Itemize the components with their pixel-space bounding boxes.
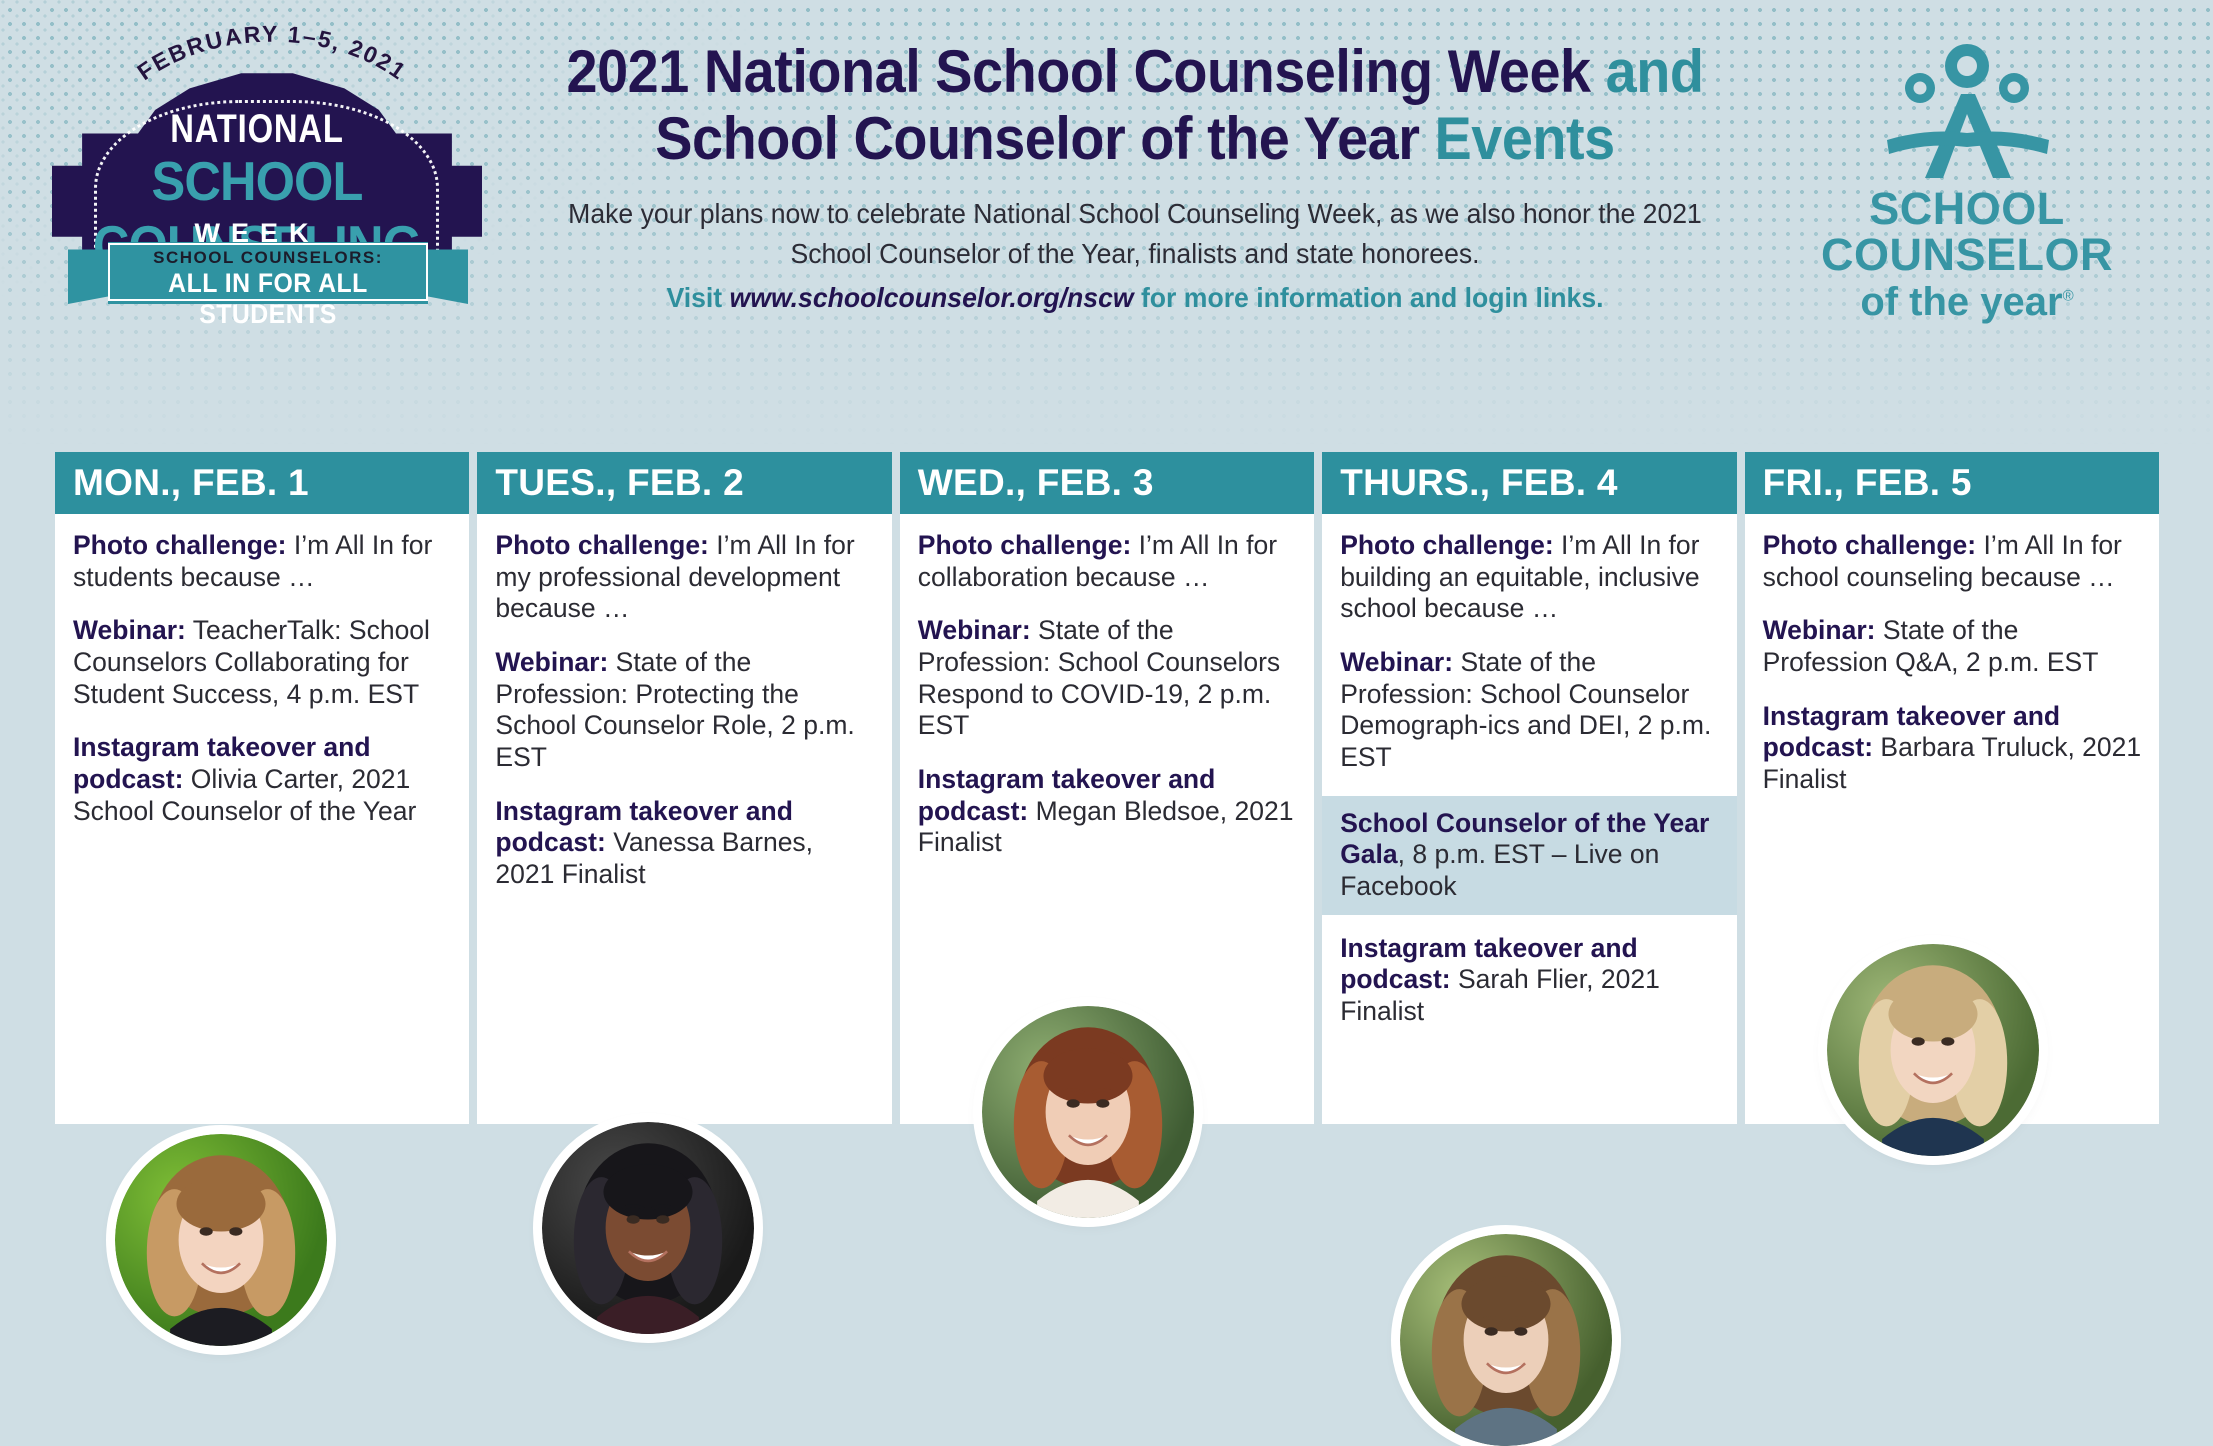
day-body-4: Photo challenge: I’m All In for building… [1322, 514, 1736, 1124]
event-entry: Webinar: TeacherTalk: School Counselors … [73, 615, 453, 710]
event-entry: Instagram takeover and podcast: Olivia C… [73, 732, 453, 827]
school-counselor-of-the-year-logo: SCHOOL COUNSELOR of the year® [1757, 36, 2177, 296]
title-accent-and: and [1606, 38, 1704, 105]
honoree-photo-image [1827, 944, 2039, 1156]
honoree-photo [1400, 1234, 1612, 1446]
event-entry-label: Photo challenge: [495, 530, 709, 560]
nscw-logo-ribbon-line2: ALL IN FOR ALL STUDENTS [121, 268, 415, 330]
honoree-photo [1827, 944, 2039, 1156]
day-header-2: TUES., FEB. 2 [477, 452, 891, 514]
event-entry-label: Webinar: [1340, 647, 1453, 677]
event-entry-label: Webinar: [1763, 615, 1876, 645]
honoree-photo-image [542, 1122, 754, 1334]
title-part-1: 2021 National School Counseling Week [567, 38, 1606, 105]
day-column-1: MON., FEB. 1Photo challenge: I’m All In … [55, 452, 469, 1124]
honoree-photo-image [982, 1006, 1194, 1218]
event-entry: Webinar: State of the Profession: School… [918, 615, 1298, 742]
day-body-2: Photo challenge: I’m All In for my profe… [477, 514, 891, 1124]
day-body-5: Photo challenge: I’m All In for school c… [1745, 514, 2159, 1124]
event-entry-label: Photo challenge: [918, 530, 1132, 560]
day-header-4: THURS., FEB. 4 [1322, 452, 1736, 514]
honoree-photo [542, 1122, 754, 1334]
scoy-line-school: SCHOOL [1757, 186, 2177, 232]
event-entry-label: Photo challenge: [73, 530, 287, 560]
event-entry: Photo challenge: I’m All In for collabor… [918, 530, 1298, 593]
scoy-brush-a-icon [1757, 36, 2177, 186]
nscw-logo-ribbon-line1: SCHOOL COUNSELORS: [108, 248, 428, 268]
day-header-3: WED., FEB. 3 [900, 452, 1314, 514]
honoree-photo [982, 1006, 1194, 1218]
registered-mark: ® [2063, 287, 2074, 304]
honoree-photo-image [1400, 1234, 1612, 1446]
title-part-2: School Counselor of the Year [655, 105, 1434, 172]
event-entry-label: Webinar: [918, 615, 1031, 645]
event-entry: Webinar: State of the Profession: Protec… [495, 647, 875, 774]
scoy-line-of-the-year: of the year® [1757, 281, 2177, 323]
scoy-of-the-year-text: of the year [1860, 280, 2062, 324]
event-entry: Webinar: State of the Profession Q&A, 2 … [1763, 615, 2143, 678]
event-entry: Photo challenge: I’m All In for school c… [1763, 530, 2143, 593]
day-header-5: FRI., FEB. 5 [1745, 452, 2159, 514]
event-entry: Webinar: State of the Profession: School… [1340, 647, 1720, 774]
visit-link-line: Visit www.schoolcounselor.org/nscw for m… [551, 282, 1720, 314]
website-url[interactable]: www.schoolcounselor.org/nscw [730, 282, 1134, 313]
header-block: 2021 National School Counseling Week and… [520, 38, 1750, 314]
event-entry: Instagram takeover and podcast: Barbara … [1763, 701, 2143, 796]
event-entry: Instagram takeover and podcast: Sarah Fl… [1340, 933, 1720, 1028]
honoree-photo [115, 1134, 327, 1346]
visit-suffix: for more information and login links. [1134, 282, 1604, 313]
scoy-line-counselor: COUNSELOR [1757, 232, 2177, 278]
gala-entry: School Counselor of the Year Gala, 8 p.m… [1322, 796, 1736, 915]
event-entry: Photo challenge: I’m All In for building… [1340, 530, 1720, 625]
day-body-1: Photo challenge: I’m All In for students… [55, 514, 469, 1124]
day-column-5: FRI., FEB. 5Photo challenge: I’m All In … [1745, 452, 2159, 1124]
header-subtitle: Make your plans now to celebrate Nationa… [551, 194, 1720, 274]
event-entry: Photo challenge: I’m All In for students… [73, 530, 453, 593]
event-entry: Instagram takeover and podcast: Megan Bl… [918, 764, 1298, 859]
day-column-3: WED., FEB. 3Photo challenge: I’m All In … [900, 452, 1314, 1124]
nscw-logo-line-national: NATIONAL [81, 107, 434, 152]
day-body-3: Photo challenge: I’m All In for collabor… [900, 514, 1314, 1124]
event-entry-label: Photo challenge: [1763, 530, 1977, 560]
day-column-2: TUES., FEB. 2Photo challenge: I’m All In… [477, 452, 891, 1124]
day-header-1: MON., FEB. 1 [55, 452, 469, 514]
event-entry-label: Webinar: [495, 647, 608, 677]
event-entry: Instagram takeover and podcast: Vanessa … [495, 796, 875, 891]
page-title: 2021 National School Counseling Week and… [563, 38, 1707, 172]
event-entry: Photo challenge: I’m All In for my profe… [495, 530, 875, 625]
title-accent-events: Events [1435, 105, 1615, 172]
event-entry-label: Photo challenge: [1340, 530, 1554, 560]
day-column-4: THURS., FEB. 4Photo challenge: I’m All I… [1322, 452, 1736, 1124]
honoree-photo-image [115, 1134, 327, 1346]
events-calendar: MON., FEB. 1Photo challenge: I’m All In … [55, 452, 2159, 1124]
event-entry-label: Webinar: [73, 615, 186, 645]
nscw-logo: FEBRUARY 1–5, 2021 NATIONAL SCHOOL COUNS… [42, 22, 502, 312]
visit-prefix: Visit [666, 282, 729, 313]
